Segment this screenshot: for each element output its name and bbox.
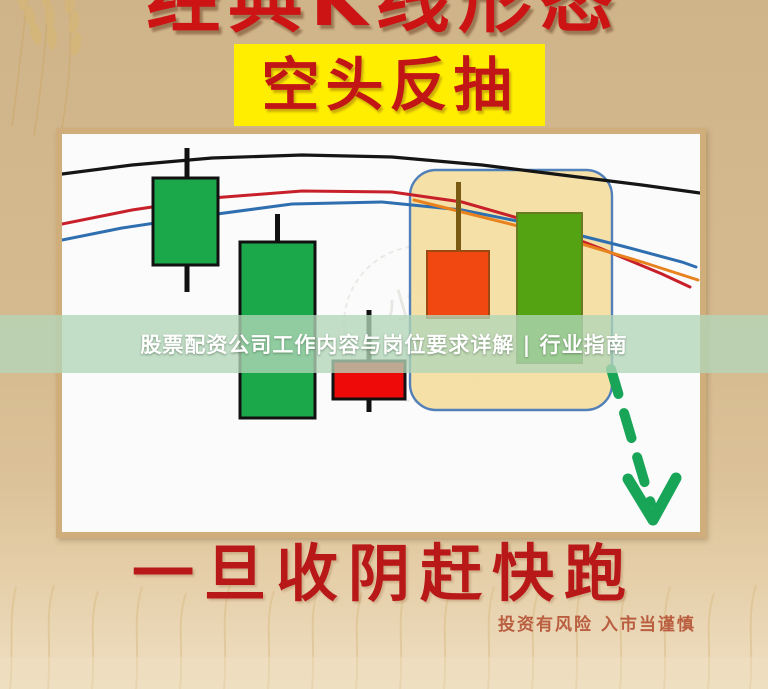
- risk-disclaimer: 投资有风险 入市当谨慎: [498, 610, 738, 640]
- poster-root: 经典K线形态 空头反抽 小郑 说股: [0, 0, 768, 689]
- bottom-slogan: 一旦收阴赶快跑: [0, 530, 768, 618]
- subtitle-banner: 空头反抽: [234, 44, 545, 126]
- subtitle-text: 空头反抽: [234, 44, 545, 126]
- page-heading: 经典K线形态: [0, 0, 768, 46]
- overlay-title-text: 股票配资公司工作内容与岗位要求详解 | 行业指南: [140, 329, 627, 359]
- overlay-title-banner: 股票配资公司工作内容与岗位要求详解 | 行业指南: [0, 315, 768, 373]
- down-right-dashed-arrow-icon: [611, 369, 676, 520]
- candle-1-bullish: [153, 148, 218, 292]
